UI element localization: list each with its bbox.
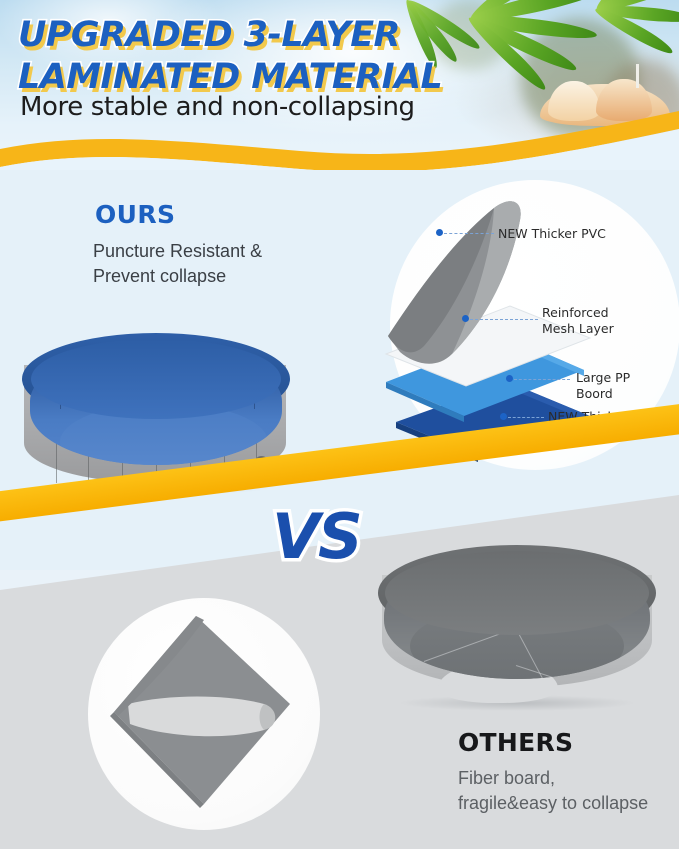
leader-line-pp-board (514, 379, 570, 380)
leader-line-mesh (470, 319, 538, 320)
layer-label-pp-board: Large PP Boord (576, 370, 660, 401)
others-description: Fiber board, fragile&easy to collapse (458, 766, 658, 816)
layer-dot-top-pvc (436, 229, 443, 236)
infographic-page: OURS Puncture Resistant & Prevent collap… (0, 0, 679, 849)
layer-dot-mesh (462, 315, 469, 322)
layer-dot-pp-board (506, 375, 513, 382)
others-heading: OTHERS (458, 728, 573, 757)
collapsing-fabric-pool-icon (378, 545, 656, 723)
delaminating-sheet-icon (108, 612, 308, 817)
pool-rim-inner (31, 339, 281, 419)
layer-label-mesh: Reinforced Mesh Layer (542, 305, 642, 336)
leader-line-top-pvc (444, 233, 494, 234)
leader-line-bottom-pvc (508, 417, 544, 418)
page-subtitle: More stable and non-collapsing (20, 92, 415, 122)
layer-dot-bottom-pvc (500, 413, 507, 420)
vs-badge: VS (272, 500, 361, 573)
ours-description: Puncture Resistant & Prevent collapse (93, 239, 303, 289)
page-title: UPGRADED 3-LAYER LAMINATED MATERIAL (18, 14, 518, 98)
title-line-1: UPGRADED 3-LAYER (18, 14, 518, 56)
pool-rim-inner (385, 551, 649, 635)
layer-label-top-pvc: NEW Thicker PVC (498, 226, 628, 242)
ours-heading: OURS (95, 200, 175, 229)
